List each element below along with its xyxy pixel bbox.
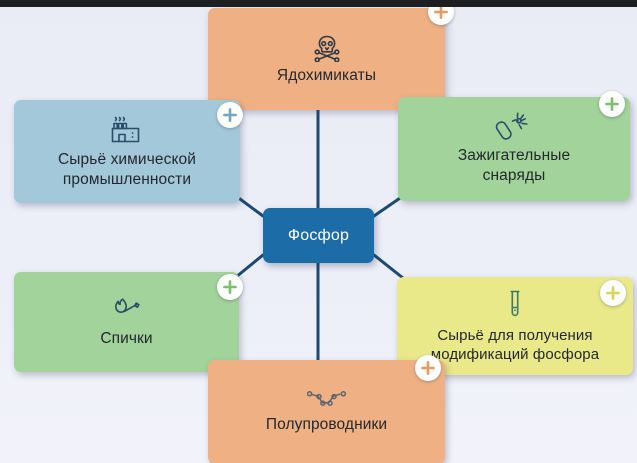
skull-crossbones-icon: [310, 32, 344, 62]
node-label-matches: Спички: [90, 329, 162, 349]
node-card-incendiary-shells[interactable]: Зажигательные снаряды: [398, 97, 630, 201]
expand-button-raw-chemical-industry[interactable]: [217, 102, 243, 128]
edge-center-incend: [374, 196, 403, 216]
node-card-poison[interactable]: Ядохимикаты: [208, 8, 445, 110]
expand-button-semiconductors[interactable]: [415, 355, 441, 381]
test-tube-icon: [503, 288, 527, 322]
expand-button-raw-for-phosphorus-modifications[interactable]: [600, 280, 626, 306]
node-card-semiconductors[interactable]: Полупроводники: [208, 360, 445, 463]
expand-button-incendiary-shells[interactable]: [599, 91, 625, 117]
node-card-raw-chemical-industry[interactable]: Сырьё химической промышленности: [14, 100, 240, 203]
center-node-label: Фосфор: [288, 227, 349, 245]
factory-icon: [107, 114, 147, 146]
circuit-nodes-icon: [307, 389, 347, 411]
center-node-phosphorus[interactable]: Фосфор: [263, 208, 374, 263]
edge-center-rawmod: [374, 255, 403, 278]
node-label-raw-for-phosphorus-modifications: Сырьё для получения модификаций фосфора: [421, 326, 609, 364]
node-label-semiconductors: Полупроводники: [256, 415, 397, 435]
node-label-incendiary-shells: Зажигательные снаряды: [448, 146, 580, 186]
expand-button-matches[interactable]: [217, 274, 243, 300]
top-dark-bar: [0, 0, 637, 7]
edge-center-rawchem: [236, 196, 263, 216]
diagram-canvas: Ядохимикаты Сырьё химической промышленно…: [0, 0, 637, 463]
node-card-matches[interactable]: Спички: [14, 272, 239, 372]
dynamite-icon: [495, 112, 533, 142]
edge-center-matches: [236, 255, 263, 277]
node-label-raw-chemical-industry: Сырьё химической промышленности: [48, 150, 206, 190]
burning-match-icon: [108, 295, 146, 325]
node-label-poison: Ядохимикаты: [267, 66, 386, 86]
